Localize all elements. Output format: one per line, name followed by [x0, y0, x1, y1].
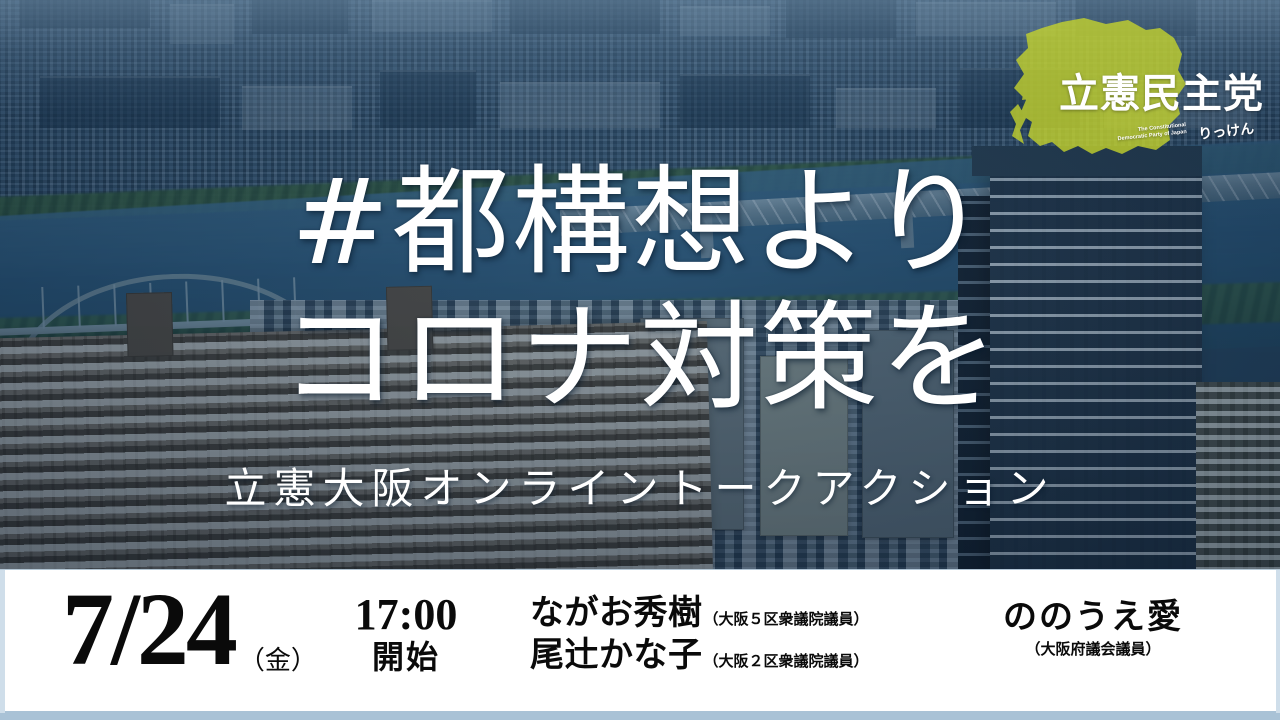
speaker-name: ながお秀樹	[530, 594, 703, 632]
speaker-affiliation: （大阪府議会議員）	[978, 638, 1208, 659]
party-logo-name-jp: 立憲民主党	[1059, 74, 1264, 114]
event-time-suffix: 開始	[336, 640, 476, 675]
bottom-strip	[0, 711, 1280, 720]
speaker-row: 尾辻かな子 （大阪２区衆議院議員）	[530, 636, 869, 674]
party-logo-name-kana: りっけん	[1197, 118, 1255, 144]
speaker-row: ながお秀樹 （大阪５区衆議院議員）	[530, 594, 869, 632]
event-time-block: 17:00 開始	[336, 592, 476, 675]
event-date: 7/24	[62, 582, 235, 678]
info-bar-left-edge	[0, 570, 5, 713]
speaker-name: 尾辻かな子	[530, 636, 703, 674]
poster-canvas: 立憲民主党 The Constitutional Democratic Part…	[0, 0, 1280, 720]
speaker-list-left: ながお秀樹 （大阪５区衆議院議員） 尾辻かな子 （大阪２区衆議院議員）	[530, 594, 869, 678]
event-time: 17:00	[336, 592, 476, 638]
party-logo: 立憲民主党 The Constitutional Democratic Part…	[1000, 18, 1272, 156]
speaker-list-right: ののうえ愛 （大阪府議会議員）	[978, 598, 1208, 659]
speaker-affiliation: （大阪５区衆議院議員）	[704, 608, 869, 629]
speaker-name: ののうえ愛	[978, 598, 1208, 636]
speaker-affiliation: （大阪２区衆議院議員）	[704, 650, 869, 671]
event-date-block: 7/24 （金）	[62, 582, 317, 678]
event-weekday: （金）	[239, 648, 317, 674]
info-bar-right-edge	[1276, 570, 1280, 713]
